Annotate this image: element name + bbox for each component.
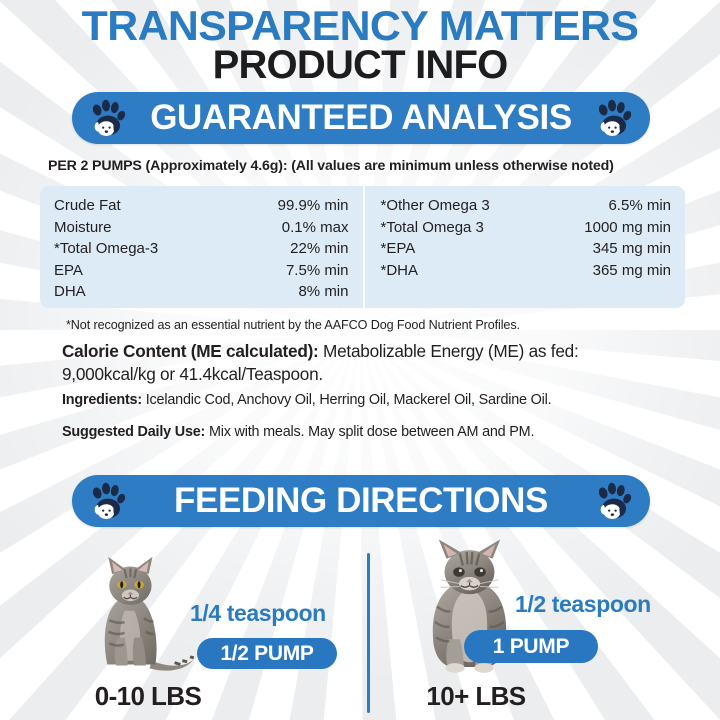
analysis-row: *Total Omega-322% min [54,238,349,260]
calorie-content-paragraph: Calorie Content (ME calculated): Metabol… [62,340,662,386]
analysis-nutrient-value: 6.5% min [608,195,671,217]
analysis-intro-line: PER 2 PUMPS (Approximately 4.6g): (All v… [48,158,614,174]
paw-print-with-dog-head-icon [88,98,128,138]
analysis-nutrient-name: *Total Omega 3 [381,217,484,239]
paw-print-with-dog-head-icon [88,481,128,521]
suggested-use-paragraph: Suggested Daily Use: Mix with meals. May… [62,424,682,440]
feeding-entry-small: 0-10 LBS 1/4 teaspoon 1/2 PUMP [0,545,367,720]
guaranteed-analysis-banner-label: GUARANTEED ANALYSIS [128,98,594,138]
analysis-nutrient-value: 1000 mg min [584,217,671,239]
ingredients-text: Icelandic Cod, Anchovy Oil, Herring Oil,… [142,392,551,408]
analysis-nutrient-value: 7.5% min [286,260,349,282]
analysis-row: DHA8% min [54,281,349,303]
feeding-directions-banner: FEEDING DIRECTIONS [72,475,650,527]
analysis-nutrient-name: *Other Omega 3 [381,195,490,217]
calorie-content-label: Calorie Content (ME calculated): [62,341,319,361]
pump-pill-large: 1 PUMP [464,630,598,663]
analysis-nutrient-name: Crude Fat [54,195,121,217]
paw-print-with-dog-head-icon [594,481,634,521]
analysis-row: *EPA345 mg min [381,238,672,260]
analysis-nutrient-value: 22% min [290,238,348,260]
sitting-tabby-cat-image [80,553,200,678]
analysis-row: *Total Omega 31000 mg min [381,217,672,239]
analysis-nutrient-value: 365 mg min [593,260,671,282]
analysis-nutrient-name: EPA [54,260,83,282]
analysis-nutrient-value: 0.1% max [282,217,349,239]
guaranteed-analysis-banner: GUARANTEED ANALYSIS [72,92,650,144]
analysis-nutrient-name: *EPA [381,238,416,260]
ingredients-label: Ingredients: [62,392,142,408]
suggested-use-text: Mix with meals. May split dose between A… [205,424,534,440]
analysis-column-right: *Other Omega 36.5% min*Total Omega 31000… [363,186,686,308]
paw-print-with-dog-head-icon [594,98,634,138]
guaranteed-analysis-table: Crude Fat99.9% minMoisture0.1% max*Total… [40,186,685,308]
analysis-nutrient-value: 8% min [298,281,348,303]
analysis-row: Moisture0.1% max [54,217,349,239]
analysis-nutrient-name: *DHA [381,260,419,282]
analysis-nutrient-value: 99.9% min [278,195,349,217]
analysis-nutrient-name: DHA [54,281,86,303]
dose-text-large: 1/2 teaspoon [515,591,651,618]
analysis-nutrient-name: *Total Omega-3 [54,238,158,260]
analysis-row: *DHA365 mg min [381,260,672,282]
analysis-column-left: Crude Fat99.9% minMoisture0.1% max*Total… [40,186,363,308]
page-subtitle: PRODUCT INFO [0,43,720,88]
analysis-nutrient-value: 345 mg min [593,238,671,260]
analysis-row: EPA7.5% min [54,260,349,282]
ingredients-paragraph: Ingredients: Icelandic Cod, Anchovy Oil,… [62,392,682,408]
feeding-entry-large: 10+ LBS 1/2 teaspoon 1 PUMP [370,545,720,720]
weight-label-large: 10+ LBS [386,681,566,712]
feeding-directions-banner-label: FEEDING DIRECTIONS [128,481,594,521]
analysis-row: Crude Fat99.9% min [54,195,349,217]
pump-pill-small: 1/2 PUMP [197,638,337,669]
analysis-nutrient-name: Moisture [54,217,112,239]
weight-label-small: 0-10 LBS [58,681,238,712]
aafco-footnote: *Not recognized as an essential nutrient… [66,318,520,332]
dose-text-small: 1/4 teaspoon [190,600,326,627]
analysis-row: *Other Omega 36.5% min [381,195,672,217]
suggested-use-label: Suggested Daily Use: [62,424,205,440]
